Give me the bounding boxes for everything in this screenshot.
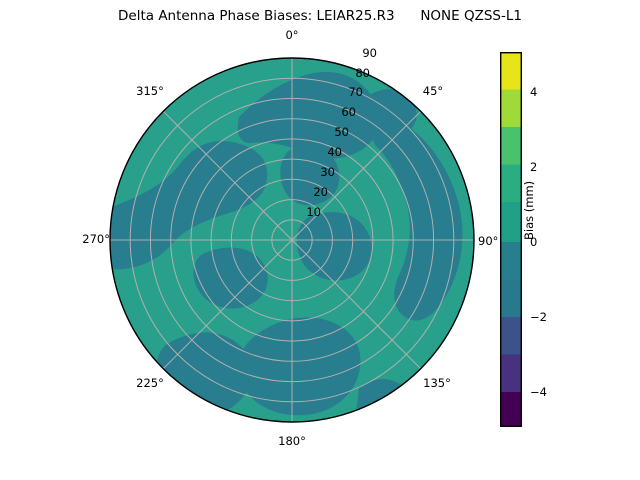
colorbar-tick-label-minus2: −2 [530, 310, 547, 324]
polar-plot [109, 57, 475, 423]
colorbar-band-0 [500, 392, 522, 427]
colorbar-bands [500, 52, 522, 427]
colorbar [500, 52, 522, 427]
colorbar-band-5 [500, 202, 522, 242]
colorbar-tick-label-minus4: −4 [530, 385, 547, 399]
colorbar-band-7 [500, 127, 522, 165]
radial-label-40: 40 [306, 145, 342, 159]
colorbar-band-1 [500, 355, 522, 393]
azimuth-label-45: 45° [413, 84, 453, 98]
radial-label-20: 20 [292, 185, 328, 199]
azimuth-label-315: 315° [126, 84, 174, 98]
colorbar-band-6 [500, 165, 522, 203]
colorbar-axis-label: Bias (mm) [522, 181, 536, 240]
colorbar-svg [500, 52, 522, 427]
azimuth-label-0: 0° [275, 28, 309, 42]
figure-canvas: Delta Antenna Phase Biases: LEIAR25.R3 N… [0, 0, 640, 480]
colorbar-tick-label-2: 2 [530, 160, 537, 174]
radial-label-10: 10 [285, 205, 321, 219]
radial-label-30: 30 [299, 165, 335, 179]
radial-label-50: 50 [313, 125, 349, 139]
azimuth-label-90-clipped: 90° [478, 232, 500, 250]
azimuth-label-90: 90° [478, 232, 498, 250]
azimuth-label-135: 135° [413, 376, 461, 390]
polar-axes-svg [109, 57, 475, 423]
colorbar-band-3 [500, 280, 522, 318]
angular-gridlines [110, 58, 474, 422]
azimuth-label-180: 180° [268, 434, 316, 448]
colorbar-band-4 [500, 242, 522, 280]
colorbar-band-2 [500, 317, 522, 355]
colorbar-tick-label-4: 4 [530, 85, 537, 99]
azimuth-label-225: 225° [126, 376, 174, 390]
colorbar-band-8 [500, 90, 522, 128]
radial-label-90: 90 [341, 46, 377, 60]
radial-label-80: 80 [334, 66, 370, 80]
radial-label-70: 70 [327, 85, 363, 99]
page-title: Delta Antenna Phase Biases: LEIAR25.R3 N… [0, 8, 640, 24]
radial-label-60: 60 [320, 105, 356, 119]
colorbar-band-9 [500, 52, 522, 90]
azimuth-label-270: 270° [62, 232, 110, 246]
